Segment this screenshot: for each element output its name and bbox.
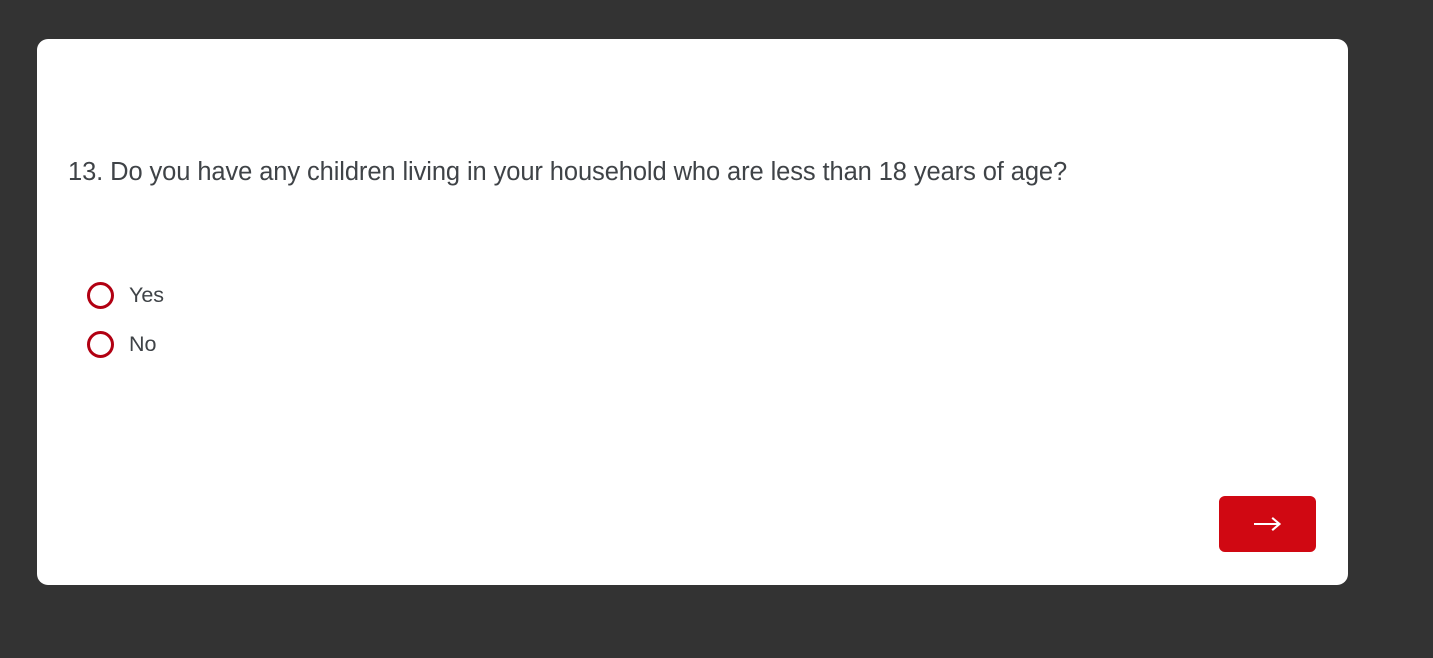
survey-question-card: 13. Do you have any children living in y… — [37, 39, 1348, 585]
answer-options-list: Yes No — [87, 271, 164, 369]
option-row-no[interactable]: No — [87, 320, 164, 369]
survey-viewport: 13. Do you have any children living in y… — [0, 0, 1433, 658]
radio-unchecked-icon[interactable] — [87, 331, 114, 358]
question-block: 13. Do you have any children living in y… — [68, 157, 1328, 189]
question-text: 13. Do you have any children living in y… — [68, 157, 1328, 189]
next-button[interactable] — [1219, 496, 1316, 552]
radio-unchecked-icon[interactable] — [87, 282, 114, 309]
option-row-yes[interactable]: Yes — [87, 271, 164, 320]
arrow-right-icon — [1253, 516, 1283, 532]
option-label-no: No — [129, 334, 156, 356]
option-label-yes: Yes — [129, 285, 164, 307]
